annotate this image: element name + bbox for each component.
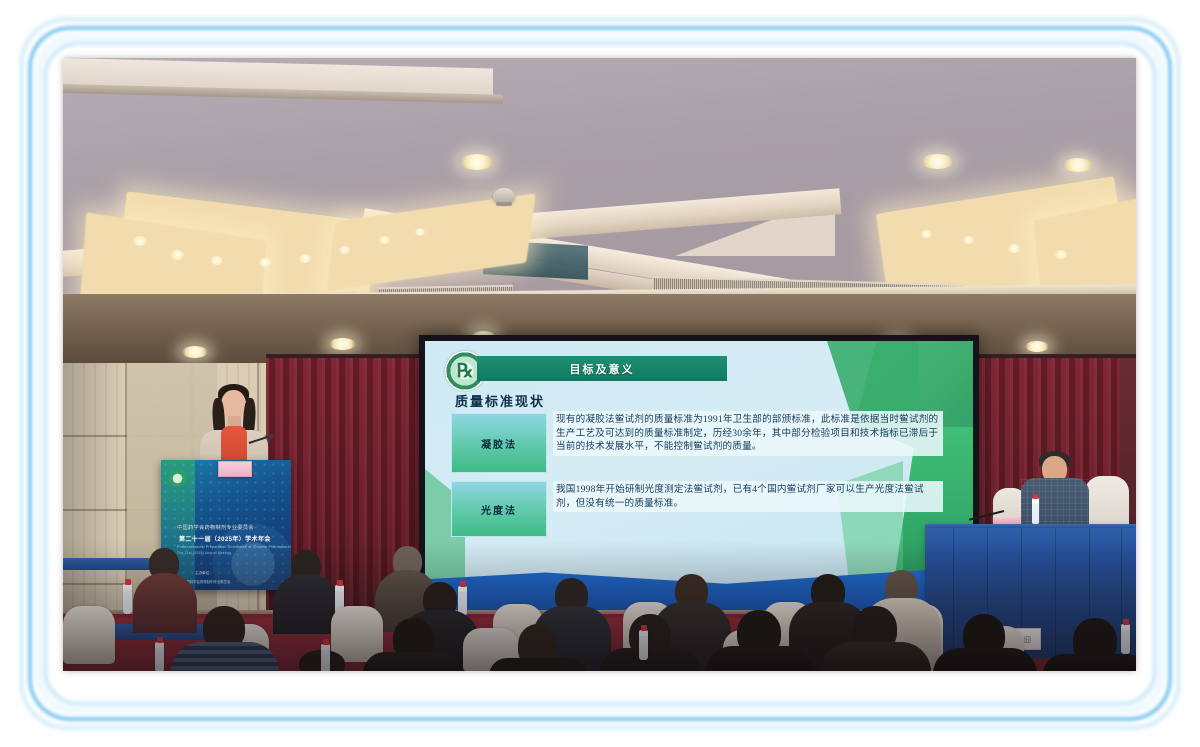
audience-chair [63, 606, 115, 664]
downlight-icon [460, 154, 494, 170]
downlight-icon [921, 154, 954, 169]
audience-person [273, 574, 339, 634]
audience-person [489, 658, 587, 671]
photo-page: ℞ 目标及意义 质量标准现状 凝胶法 现有的凝胶法鲎试剂的质量标准为1991年卫… [0, 0, 1200, 747]
conference-photograph: ℞ 目标及意义 质量标准现状 凝胶法 现有的凝胶法鲎试剂的质量标准为1991年卫… [63, 58, 1136, 671]
slide-title: 目标及意义 [570, 361, 635, 377]
water-bottle [1121, 624, 1130, 654]
downlight-icon [182, 346, 208, 358]
podium-logo-icon [169, 470, 186, 487]
podium-english-line-2: The 21st (2025) Annual Meeting [177, 551, 287, 555]
slide-paragraph-gel: 现有的凝胶法鲎试剂的质量标准为1991年卫生部的部颁标准，此标准是依据当时鲎试剂… [553, 411, 943, 456]
chandelier-bulb [963, 236, 974, 244]
audience-person [599, 648, 701, 671]
slide-subtitle: 质量标准现状 [455, 391, 545, 410]
audience-person [933, 648, 1037, 671]
chandelier-bulb [1055, 250, 1067, 259]
chandelier-bulb [379, 236, 390, 244]
chandelier-bulb [339, 246, 350, 254]
slide-paragraph-photometric: 我国1998年开始研制光度测定法鲎试剂，已有4个国内鲎试剂厂家可以生产光度法鲎试… [553, 481, 943, 512]
smoke-detector-icon [493, 188, 515, 204]
downlight-icon [1063, 158, 1093, 172]
chandelier-bulb [171, 250, 184, 260]
chandelier-bulb [921, 230, 932, 238]
downlight-icon [329, 338, 356, 350]
water-bottle [123, 584, 132, 614]
chandelier-bulb [299, 254, 311, 263]
audience-person [821, 642, 931, 671]
audience-person [705, 646, 813, 671]
speaker-name-card [218, 461, 252, 477]
water-bottle [1032, 498, 1039, 524]
water-bottle [321, 644, 330, 671]
water-bottle [155, 642, 164, 671]
podium-banner: 中国药学会药物制剂专业委员会 第二十一届（2025年）学术年会 Pharmace… [161, 460, 291, 590]
slide-method-box-gel: 凝胶法 [451, 413, 547, 473]
water-bottle [639, 630, 648, 660]
podium-english-line-1: Pharmaceutical Preparation Committee of … [177, 545, 287, 549]
chandelier-bulb [259, 258, 271, 267]
downlight-icon [1025, 341, 1049, 352]
slide-method-label: 光度法 [481, 502, 517, 517]
chandelier-bulb [415, 228, 425, 236]
podium-event-line: 第二十一届（2025年）学术年会 [179, 534, 283, 543]
slide-title-bar: 目标及意义 [477, 356, 727, 381]
chandelier-bulb [1008, 244, 1020, 253]
podium-microphone-head [268, 434, 274, 439]
speaker-head [221, 390, 246, 419]
slide-method-box-photometric: 光度法 [451, 481, 547, 537]
audience-person [133, 573, 197, 633]
audience-person [171, 642, 279, 671]
podium-org-line: 中国药学会药物制剂专业委员会 [177, 524, 281, 531]
chandelier-bulb [211, 256, 223, 265]
audience-person [1043, 654, 1136, 671]
chandelier-bulb [133, 236, 147, 246]
slide-logo-glyph: ℞ [456, 362, 473, 381]
podium-footer-label: 主办单位 [195, 571, 209, 576]
audience-person [363, 652, 463, 671]
slide-method-label: 凝胶法 [481, 436, 517, 451]
